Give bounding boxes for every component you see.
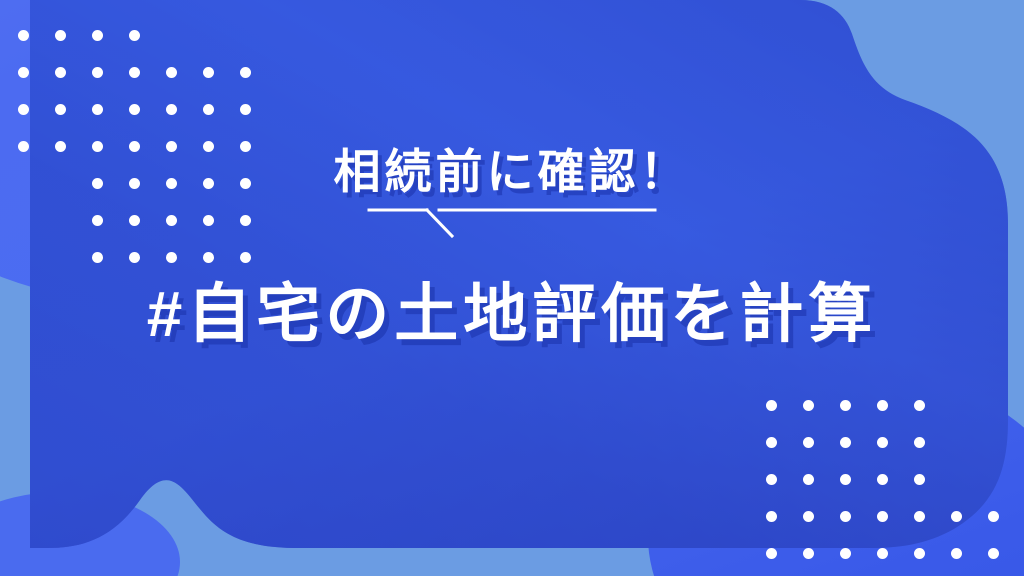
zigzag-divider: [367, 206, 657, 240]
main-headline: #自宅の土地評価を計算: [147, 278, 878, 352]
divider-diagonal-tick: [427, 210, 452, 236]
headline-block: 相続前に確認！ #自宅の土地評価を計算: [0, 0, 1024, 576]
eyebrow-headline: 相続前に確認！: [334, 144, 691, 200]
banner-canvas: 相続前に確認！ #自宅の土地評価を計算: [0, 0, 1024, 576]
